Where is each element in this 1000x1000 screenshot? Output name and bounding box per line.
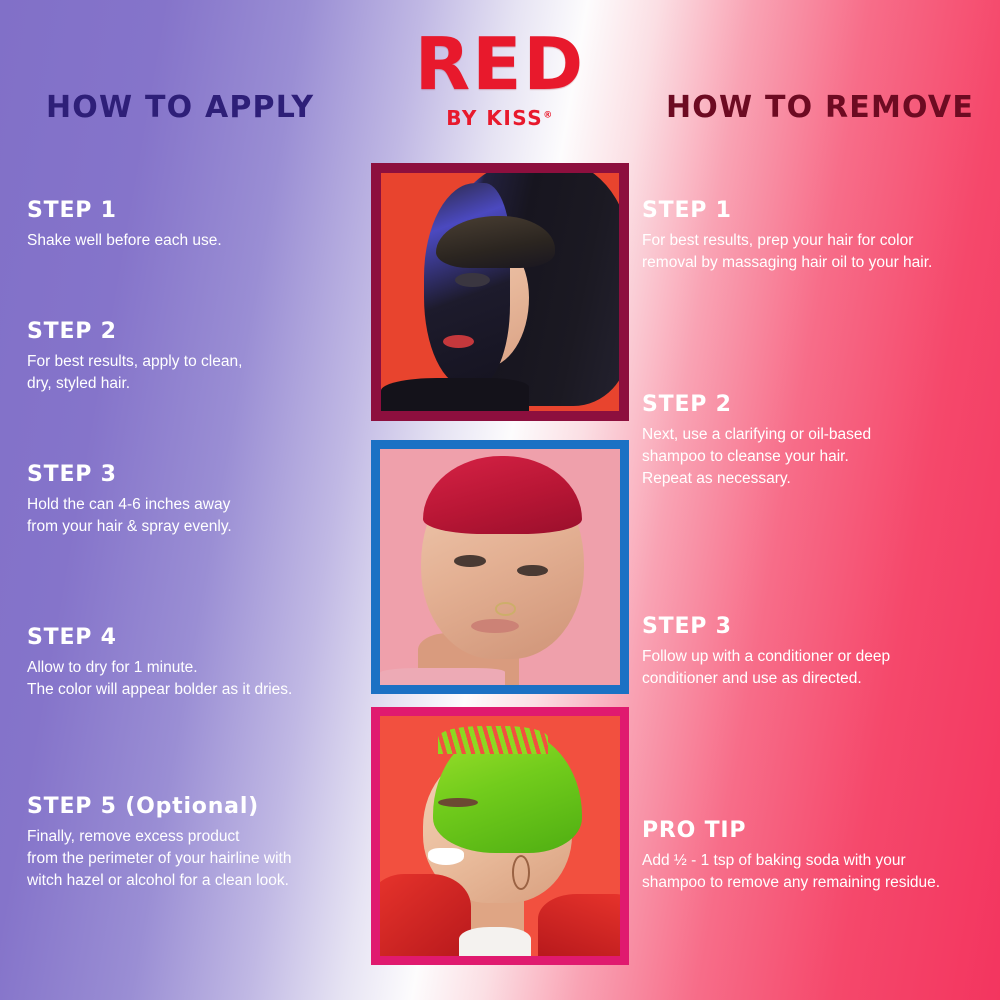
poster-root: RED BY KISS® HOW TO APPLY HOW TO REMOVE …	[0, 0, 1000, 1000]
photo-3-jacket-right	[538, 894, 620, 956]
remove-step-2-line-1: Next, use a clarifying or oil-based	[642, 424, 871, 446]
photo-3-smile	[428, 848, 464, 865]
remove-step-1: STEP 1 For best results, prep your hair …	[642, 198, 932, 274]
photo-3-image	[380, 716, 620, 956]
apply-step-3-title: STEP 3	[27, 462, 232, 487]
apply-step-5-line-2: from the perimeter of your hairline with	[27, 848, 291, 870]
photo-1-lips	[443, 335, 474, 348]
apply-step-2-body: For best results, apply to clean, dry, s…	[27, 351, 242, 395]
apply-step-2-line-2: dry, styled hair.	[27, 373, 242, 395]
remove-step-1-title: STEP 1	[642, 198, 932, 223]
remove-step-2-title: STEP 2	[642, 392, 871, 417]
heading-how-to-apply: HOW TO APPLY	[46, 90, 314, 125]
photo-2-lips	[471, 619, 519, 633]
remove-step-1-line-1: For best results, prep your hair for col…	[642, 230, 932, 252]
apply-step-4-line-1: Allow to dry for 1 minute.	[27, 657, 292, 679]
photo-1-shoulder	[381, 378, 529, 411]
apply-step-1-line-1: Shake well before each use.	[27, 230, 222, 252]
apply-step-5-body: Finally, remove excess product from the …	[27, 826, 291, 892]
remove-step-3-line-2: conditioner and use as directed.	[642, 668, 890, 690]
apply-step-5-line-3: witch hazel or alcohol for a clean look.	[27, 870, 291, 892]
apply-step-1-body: Shake well before each use.	[27, 230, 222, 252]
apply-step-3-line-2: from your hair & spray evenly.	[27, 516, 232, 538]
photo-2-image	[380, 449, 620, 685]
remove-step-3-line-1: Follow up with a conditioner or deep	[642, 646, 890, 668]
apply-step-2: STEP 2 For best results, apply to clean,…	[27, 319, 242, 395]
remove-step-2: STEP 2 Next, use a clarifying or oil-bas…	[642, 392, 871, 490]
apply-step-2-line-1: For best results, apply to clean,	[27, 351, 242, 373]
photo-2-hair	[423, 456, 581, 534]
photo-2-shirt	[380, 668, 505, 685]
remove-step-1-line-2: removal by massaging hair oil to your ha…	[642, 252, 932, 274]
photo-3-hair-spikes	[438, 726, 548, 755]
remove-step-3: STEP 3 Follow up with a conditioner or d…	[642, 614, 890, 690]
pro-tip-line-1: Add ½ - 1 tsp of baking soda with your	[642, 850, 940, 872]
apply-step-1-title: STEP 1	[27, 198, 222, 223]
photo-2-nose-ring	[495, 602, 516, 615]
apply-step-1: STEP 1 Shake well before each use.	[27, 198, 222, 252]
pro-tip-body: Add ½ - 1 tsp of baking soda with your s…	[642, 850, 940, 894]
remove-step-3-title: STEP 3	[642, 614, 890, 639]
photo-1-image	[381, 173, 619, 411]
apply-step-5-line-1: Finally, remove excess product	[27, 826, 291, 848]
remove-step-1-body: For best results, prep your hair for col…	[642, 230, 932, 274]
apply-step-4-title: STEP 4	[27, 625, 292, 650]
apply-step-3-body: Hold the can 4-6 inches away from your h…	[27, 494, 232, 538]
photo-blue-streak-hair	[371, 163, 629, 421]
photo-2-eye-left	[454, 555, 485, 567]
heading-how-to-remove: HOW TO REMOVE	[666, 90, 974, 125]
remove-step-3-body: Follow up with a conditioner or deep con…	[642, 646, 890, 690]
apply-step-2-title: STEP 2	[27, 319, 242, 344]
remove-step-2-line-3: Repeat as necessary.	[642, 468, 871, 490]
photo-red-buzzcut	[371, 440, 629, 694]
remove-step-2-line-2: shampoo to cleanse your hair.	[642, 446, 871, 468]
photo-green-hair	[371, 707, 629, 965]
pro-tip-title: PRO TIP	[642, 818, 940, 843]
remove-step-2-body: Next, use a clarifying or oil-based sham…	[642, 424, 871, 490]
apply-step-5-title: STEP 5 (Optional)	[27, 794, 291, 819]
photo-3-shirt	[459, 927, 531, 956]
apply-step-3-line-1: Hold the can 4-6 inches away	[27, 494, 232, 516]
apply-step-4-line-2: The color will appear bolder as it dries…	[27, 679, 292, 701]
registered-trademark-icon: ®	[543, 110, 554, 120]
apply-step-5: STEP 5 (Optional) Finally, remove excess…	[27, 794, 291, 892]
apply-step-4-body: Allow to dry for 1 minute. The color wil…	[27, 657, 292, 701]
logo-subtitle-text: BY KISS	[446, 106, 543, 130]
apply-step-3: STEP 3 Hold the can 4-6 inches away from…	[27, 462, 232, 538]
pro-tip-line-2: shampoo to remove any remaining residue.	[642, 872, 940, 894]
photo-3-jacket-left	[380, 874, 471, 956]
apply-step-4: STEP 4 Allow to dry for 1 minute. The co…	[27, 625, 292, 701]
pro-tip: PRO TIP Add ½ - 1 tsp of baking soda wit…	[642, 818, 940, 894]
